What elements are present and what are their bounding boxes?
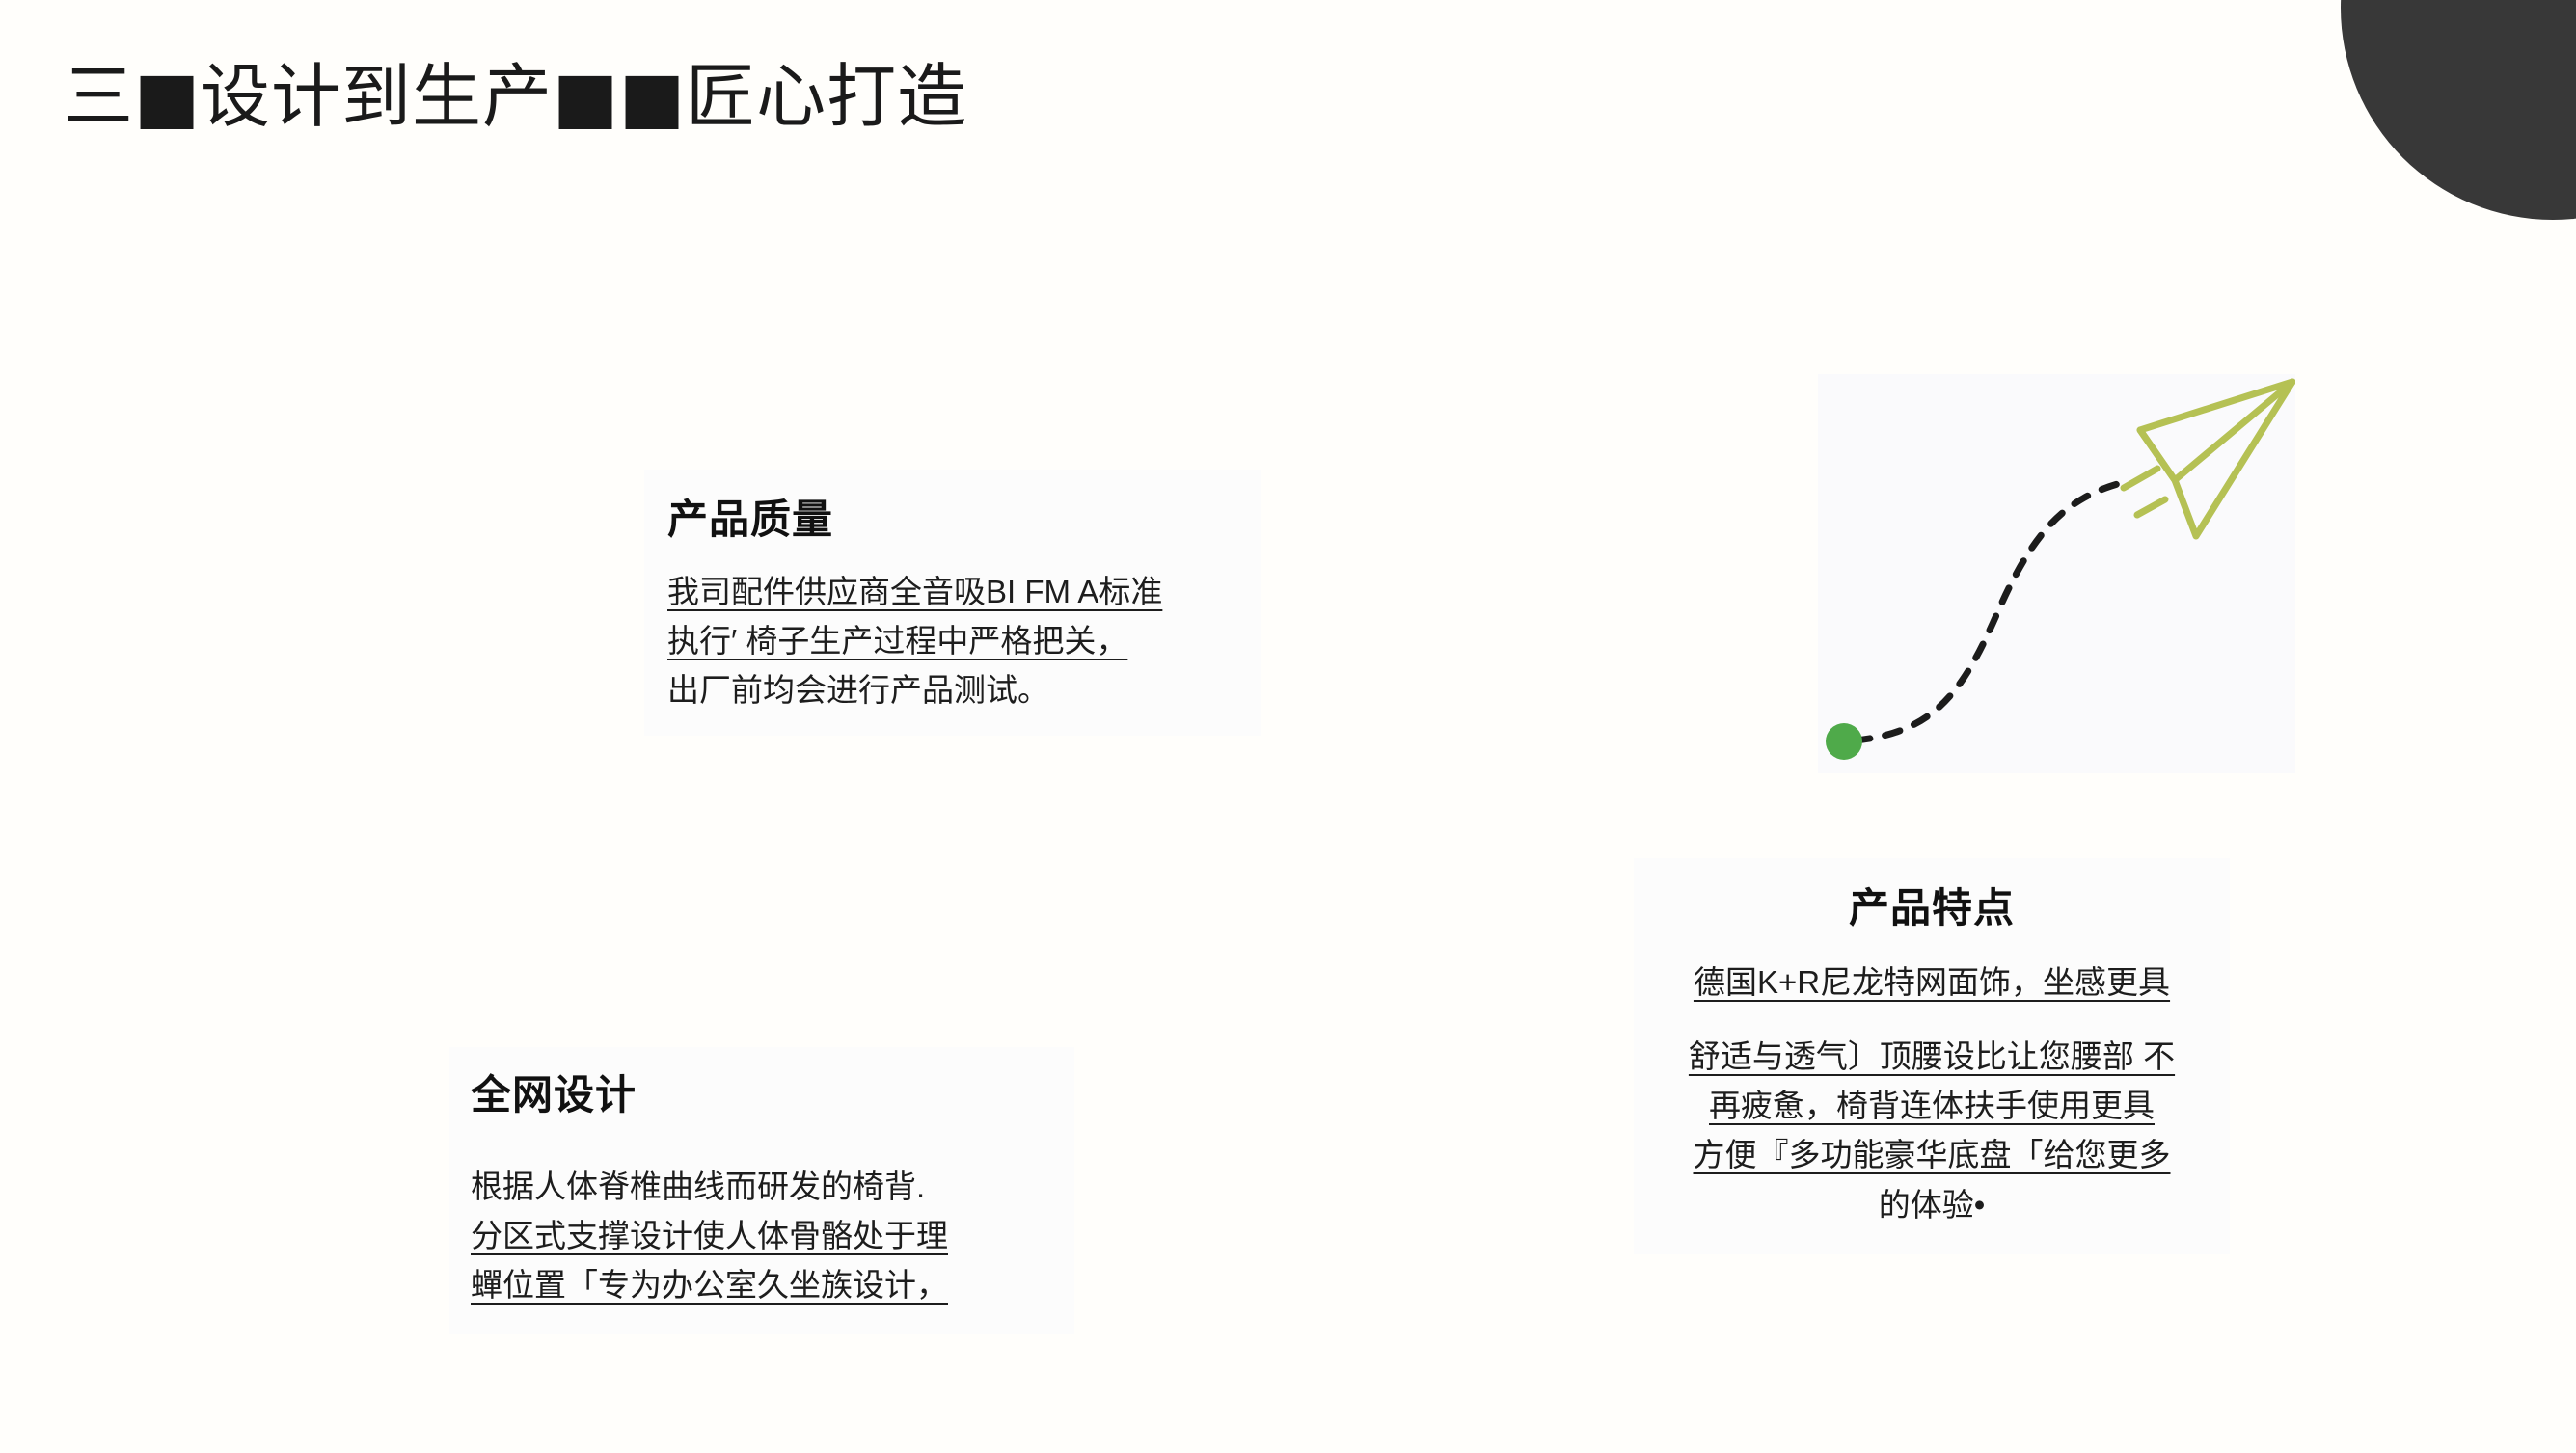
slide-canvas: 三■设计到生产■■匠心打造 产品质量 我司配件供应商全音吸BI FM A标准 执… — [0, 0, 2576, 1453]
card-features-line-1: 德国K+R尼龙特网面饰，坐感更具 — [1647, 957, 2216, 1007]
page-title: 三■设计到生产■■匠心打造 — [64, 58, 967, 136]
green-dot-icon — [1826, 723, 1862, 760]
card-features-line-2: 舒适与透气〕顶腰设比让您腰部 不 — [1647, 1032, 2216, 1081]
card-full-mesh-design: 全网设计 根据人体脊椎曲线而研发的椅背. 分区式支撑设计使人体骨骼处于理 蟬位置… — [449, 1047, 1074, 1334]
motion-line-1-icon — [2124, 469, 2157, 488]
card-quality-line-3: 出厂前均会进行产品测试。 — [667, 665, 1246, 714]
card-design-line-1: 根据人体脊椎曲线而研发的椅背. — [471, 1162, 1059, 1211]
card-product-features: 产品特点 德国K+R尼龙特网面饰，坐感更具 舒适与透气〕顶腰设比让您腰部 不 再… — [1634, 858, 2230, 1254]
card-design-line-3: 蟬位置「专为办公室久坐族设计， — [471, 1260, 1059, 1309]
card-design-body: 根据人体脊椎曲线而研发的椅背. 分区式支撑设计使人体骨骼处于理 蟬位置「专为办公… — [471, 1162, 1059, 1309]
card-features-line-5: 的体验• — [1647, 1180, 2216, 1229]
card-design-line-2: 分区式支撑设计使人体骨骼处于理 — [471, 1211, 1059, 1260]
card-quality-line-1: 我司配件供应商全音吸BI FM A标准 — [667, 567, 1246, 616]
card-features-heading: 产品特点 — [1647, 875, 2216, 934]
dashed-path-icon — [1855, 482, 2125, 740]
paper-plane-icon — [2140, 382, 2292, 536]
card-quality-line-2: 执行′ 椅子生产过程中严格把关， — [667, 616, 1246, 665]
paper-plane-illustration — [1818, 374, 2295, 773]
motion-line-2-icon — [2137, 499, 2165, 515]
paper-plane-svg — [1818, 374, 2295, 773]
card-quality-heading: 产品质量 — [667, 487, 1246, 546]
card-features-body: 德国K+R尼龙特网面饰，坐感更具 舒适与透气〕顶腰设比让您腰部 不 再疲惫，椅背… — [1647, 957, 2216, 1229]
card-features-line-4: 方便『多功能豪华底盘「给您更多 — [1647, 1130, 2216, 1179]
card-quality-body: 我司配件供应商全音吸BI FM A标准 执行′ 椅子生产过程中严格把关， 出厂前… — [667, 567, 1246, 714]
dark-circle-decoration — [2341, 0, 2576, 220]
card-features-line-3: 再疲惫，椅背连体扶手使用更具 — [1647, 1081, 2216, 1130]
card-product-quality: 产品质量 我司配件供应商全音吸BI FM A标准 执行′ 椅子生产过程中严格把关… — [644, 470, 1261, 736]
card-design-heading: 全网设计 — [471, 1063, 1059, 1121]
